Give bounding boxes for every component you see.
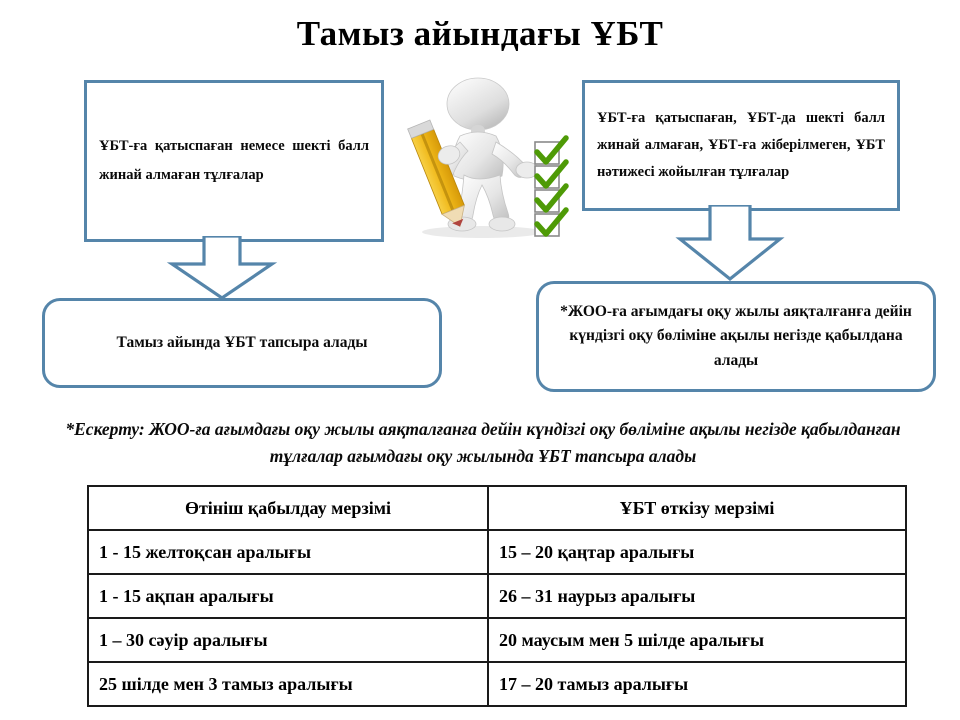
condition-box-right-text: ҰБТ-ға қатыспаған, ҰБТ-да шекті балл жин… [585,105,897,185]
figure-shadow [422,226,542,238]
table-cell-test-period: 20 маусым мен 5 шілде аралығы [488,618,906,662]
table-cell-application-period: 1 - 15 желтоқсан аралығы [88,530,488,574]
result-box-left: Тамыз айында ҰБТ тапсыра алады [42,298,442,388]
checklist-item-3 [535,210,566,236]
table-header-row: Өтініш қабылдау мерзімі ҰБТ өткізу мерзі… [88,486,906,530]
checklist-item-1 [535,162,566,188]
figure-foot-right [489,217,515,231]
table-header-application-period: Өтініш қабылдау мерзімі [88,486,488,530]
condition-box-left-text: ҰБТ-ға қатыспаған немесе шекті балл жина… [87,132,381,190]
checklist-item-2 [535,186,566,212]
table-row: 1 - 15 ақпан аралығы 26 – 31 наурыз арал… [88,574,906,618]
table-cell-application-period: 1 - 15 ақпан аралығы [88,574,488,618]
footnote-text: *Ескерту: ЖОО-ға ағымдағы оқу жылы аяқта… [58,416,908,470]
table-cell-application-period: 1 – 30 сәуір аралығы [88,618,488,662]
figure-head [447,78,509,130]
table-row: 1 - 15 желтоқсан аралығы 15 – 20 қаңтар … [88,530,906,574]
checklist-item-4 [535,138,566,164]
condition-box-left: ҰБТ-ға қатыспаған немесе шекті балл жина… [84,80,384,242]
table-header-test-period: ҰБТ өткізу мерзімі [488,486,906,530]
table-cell-test-period: 17 – 20 тамыз аралығы [488,662,906,706]
table-cell-application-period: 25 шілде мен 3 тамыз аралығы [88,662,488,706]
result-box-right-text: *ЖОО-ға ағымдағы оқу жылы аяқталғанға де… [539,300,933,372]
infographic-page: Тамыз айындағы ҰБТ ҰБТ-ға қатыспаған нем… [0,0,960,720]
page-title: Тамыз айындағы ҰБТ [0,14,960,54]
condition-box-right: ҰБТ-ға қатыспаған, ҰБТ-да шекті балл жин… [582,80,900,211]
table-cell-test-period: 26 – 31 наурыз аралығы [488,574,906,618]
schedule-table: Өтініш қабылдау мерзімі ҰБТ өткізу мерзі… [87,485,907,707]
result-box-right: *ЖОО-ға ағымдағы оқу жылы аяқталғанға де… [536,281,936,392]
result-box-left-text: Тамыз айында ҰБТ тапсыра алады [45,329,439,356]
arrow-down-left-icon [164,236,280,302]
table-row: 1 – 30 сәуір аралығы 20 маусым мен 5 шіл… [88,618,906,662]
arrow-down-right-icon [672,205,788,285]
person-with-pencil-and-checklist-illustration [390,72,586,240]
table-cell-test-period: 15 – 20 қаңтар аралығы [488,530,906,574]
checklist [535,138,566,236]
table-row: 25 шілде мен 3 тамыз аралығы 17 – 20 там… [88,662,906,706]
